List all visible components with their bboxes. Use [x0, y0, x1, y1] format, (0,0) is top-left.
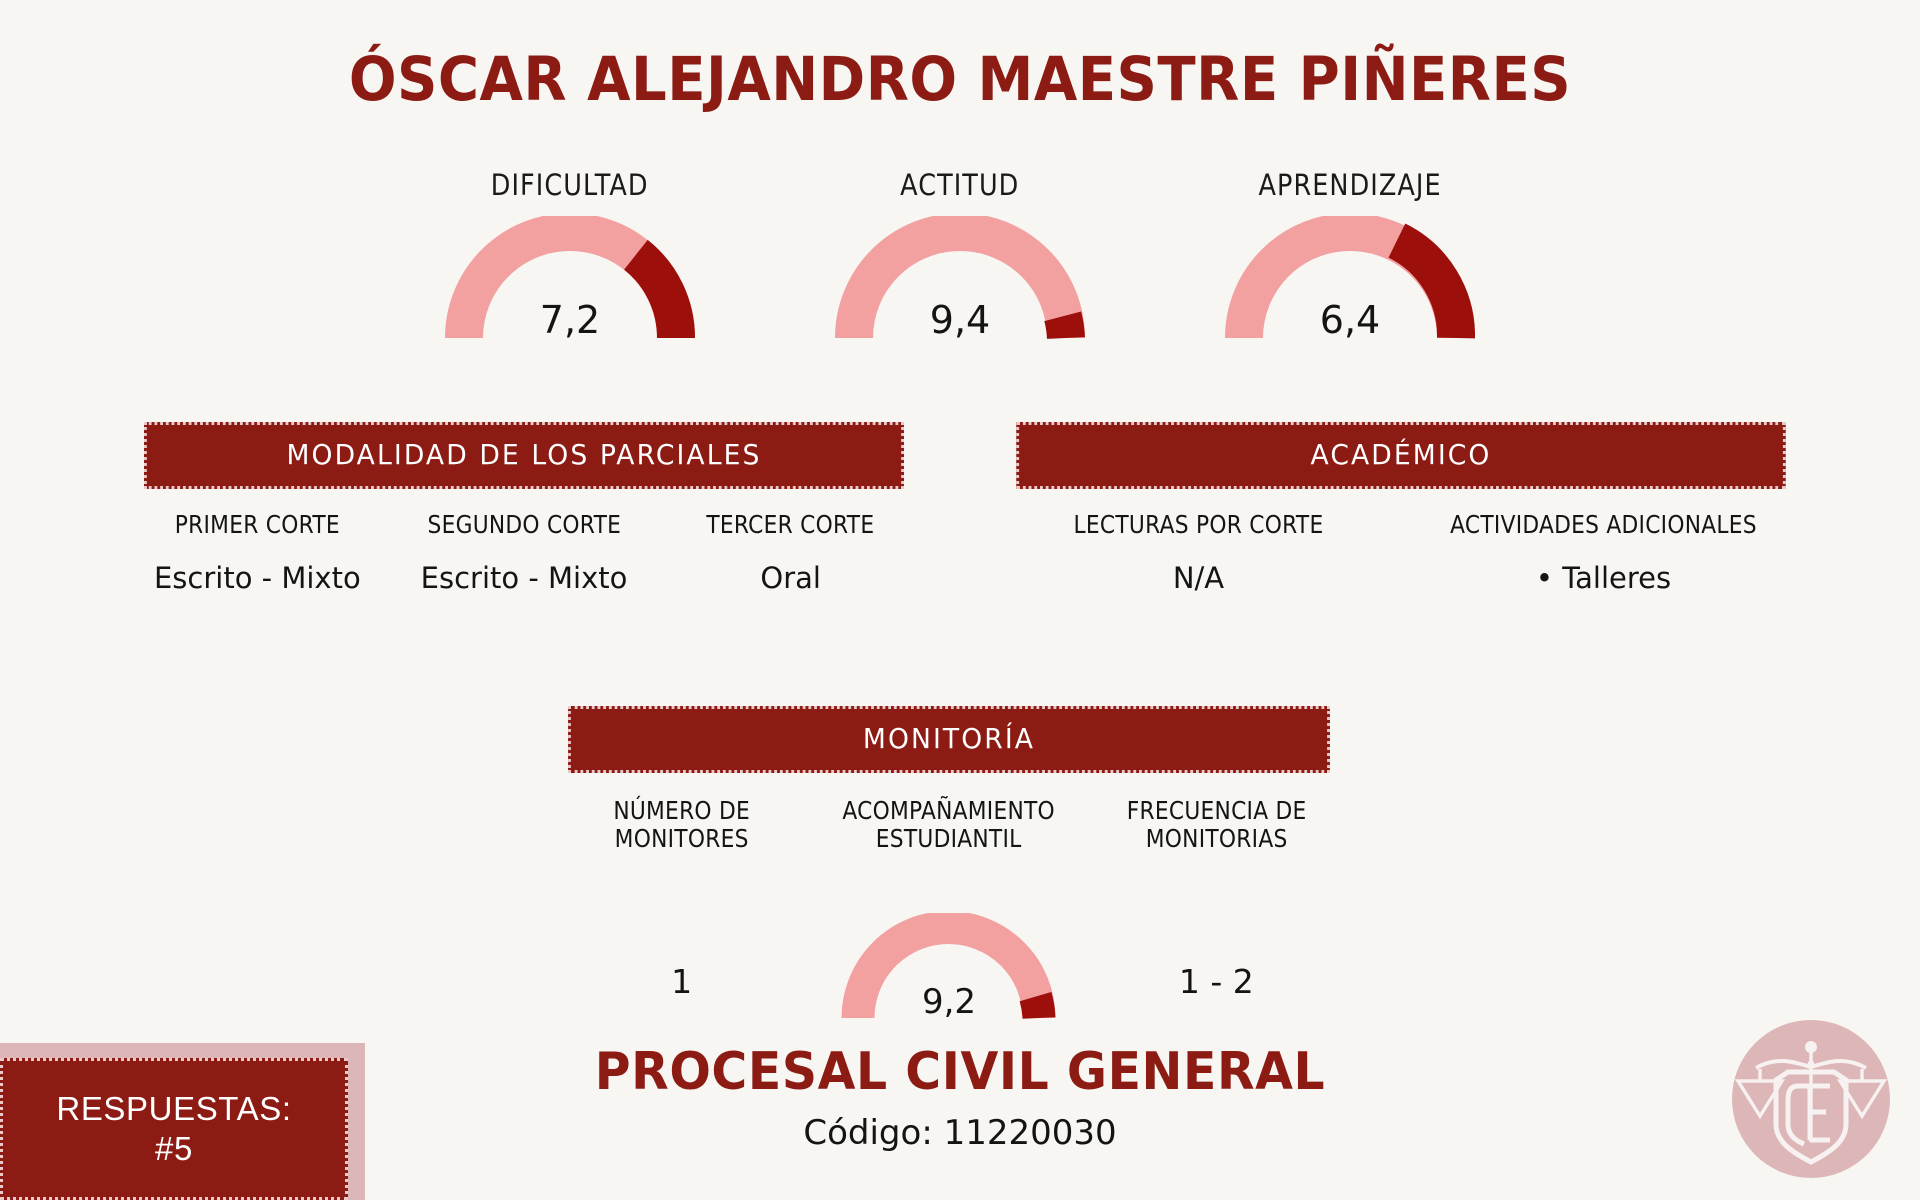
monitoria-header-frecuencia-l1: FRECUENCIA DE [1100, 797, 1333, 825]
monitoria-value-numero: 1 [671, 962, 692, 1025]
monitoria-header-acompanamiento-l2: ESTUDIANTIL [833, 825, 1066, 853]
panel-modalidad-parciales: MODALIDAD DE LOS PARCIALES PRIMER CORTE … [124, 422, 924, 595]
monitoria-columns: NÚMERO DE MONITORES ACOMPAÑAMIENTO ESTUD… [548, 797, 1350, 853]
panel-header-academico: ACADÉMICO [1016, 422, 1786, 489]
status-badge-text: RESPUESTAS: #5 [56, 1089, 291, 1170]
monitoria-header-frecuencia-l2: MONITORIAS [1100, 825, 1333, 853]
monitoria-col-acompanamiento: ACOMPAÑAMIENTO ESTUDIANTIL [815, 797, 1082, 853]
parciales-value-segundo: Escrito - Mixto [391, 561, 658, 595]
panel-header-monitoria: MONITORÍA [568, 706, 1330, 773]
monitoria-value-acompanamiento-cell: 9,2 [815, 875, 1082, 1025]
gauge-row: DIFICULTAD 7,2 ACTITUD 9,4 APRENDIZAJE [420, 168, 1500, 346]
gauge-value-dificultad: 7,2 [445, 298, 695, 342]
academico-value-lecturas: N/A [996, 561, 1401, 595]
gauge-actitud: ACTITUD 9,4 [810, 168, 1110, 346]
gauge-arc-acompanamiento: 9,2 [841, 913, 1056, 1025]
monitoria-values: 1 9,2 1 - 2 [548, 875, 1350, 1025]
gauge-label-aprendizaje: APRENDIZAJE [1258, 168, 1441, 202]
academico-header-lecturas: LECTURAS POR CORTE [1022, 511, 1374, 539]
status-badge-line2: #5 [56, 1129, 291, 1169]
parciales-header-segundo: SEGUNDO CORTE [408, 511, 640, 539]
academico-col-lecturas: LECTURAS POR CORTE N/A [996, 511, 1401, 595]
parciales-header-tercer: TERCER CORTE [675, 511, 907, 539]
monitoria-value-frecuencia-cell: 1 - 2 [1083, 875, 1350, 1025]
panel-header-parciales: MODALIDAD DE LOS PARCIALES [144, 422, 904, 489]
monitoria-col-numero: NÚMERO DE MONITORES [548, 797, 815, 853]
monitoria-col-frecuencia: FRECUENCIA DE MONITORIAS [1083, 797, 1350, 853]
parciales-value-primer: Escrito - Mixto [124, 561, 391, 595]
academico-columns: LECTURAS POR CORTE N/A ACTIVIDADES ADICI… [996, 511, 1806, 595]
monitoria-header-numero-l1: NÚMERO DE [565, 797, 798, 825]
gauge-dificultad: DIFICULTAD 7,2 [420, 168, 720, 346]
status-badge: RESPUESTAS: #5 [0, 1043, 365, 1200]
monitoria-header-acompanamiento-l1: ACOMPAÑAMIENTO [833, 797, 1066, 825]
gauge-arc-actitud: 9,4 [835, 216, 1085, 346]
monitoria-header-numero-l2: MONITORES [565, 825, 798, 853]
gauge-value-acompanamiento: 9,2 [841, 982, 1056, 1022]
scales-of-justice-shield-logo [1732, 1020, 1890, 1178]
gauge-arc-aprendizaje: 6,4 [1225, 216, 1475, 346]
monitoria-value-frecuencia: 1 - 2 [1179, 962, 1254, 1025]
parciales-col-tercer: TERCER CORTE Oral [657, 511, 924, 595]
page-title: ÓSCAR ALEJANDRO MAESTRE PIÑERES [77, 44, 1843, 115]
monitoria-value-numero-cell: 1 [548, 875, 815, 1025]
gauge-value-actitud: 9,4 [835, 298, 1085, 342]
parciales-columns: PRIMER CORTE Escrito - Mixto SEGUNDO COR… [124, 511, 924, 595]
academico-value-actividades: • Talleres [1401, 561, 1806, 595]
parciales-col-segundo: SEGUNDO CORTE Escrito - Mixto [391, 511, 658, 595]
gauge-value-aprendizaje: 6,4 [1225, 298, 1475, 342]
panel-monitoria: MONITORÍA NÚMERO DE MONITORES ACOMPAÑAMI… [548, 706, 1350, 1025]
gauge-label-actitud: ACTITUD [900, 168, 1019, 202]
parciales-col-primer: PRIMER CORTE Escrito - Mixto [124, 511, 391, 595]
parciales-value-tercer: Oral [657, 561, 924, 595]
logo-svg [1732, 1020, 1890, 1178]
status-badge-line1: RESPUESTAS: [56, 1089, 291, 1129]
gauge-label-dificultad: DIFICULTAD [491, 168, 649, 202]
infographic-canvas: ÓSCAR ALEJANDRO MAESTRE PIÑERES DIFICULT… [0, 0, 1920, 1200]
panel-academico: ACADÉMICO LECTURAS POR CORTE N/A ACTIVID… [996, 422, 1806, 595]
parciales-header-primer: PRIMER CORTE [141, 511, 373, 539]
academico-header-actividades: ACTIVIDADES ADICIONALES [1427, 511, 1779, 539]
gauge-arc-dificultad: 7,2 [445, 216, 695, 346]
academico-col-actividades: ACTIVIDADES ADICIONALES • Talleres [1401, 511, 1806, 595]
status-badge-inner: RESPUESTAS: #5 [0, 1058, 348, 1200]
gauge-aprendizaje: APRENDIZAJE 6,4 [1200, 168, 1500, 346]
